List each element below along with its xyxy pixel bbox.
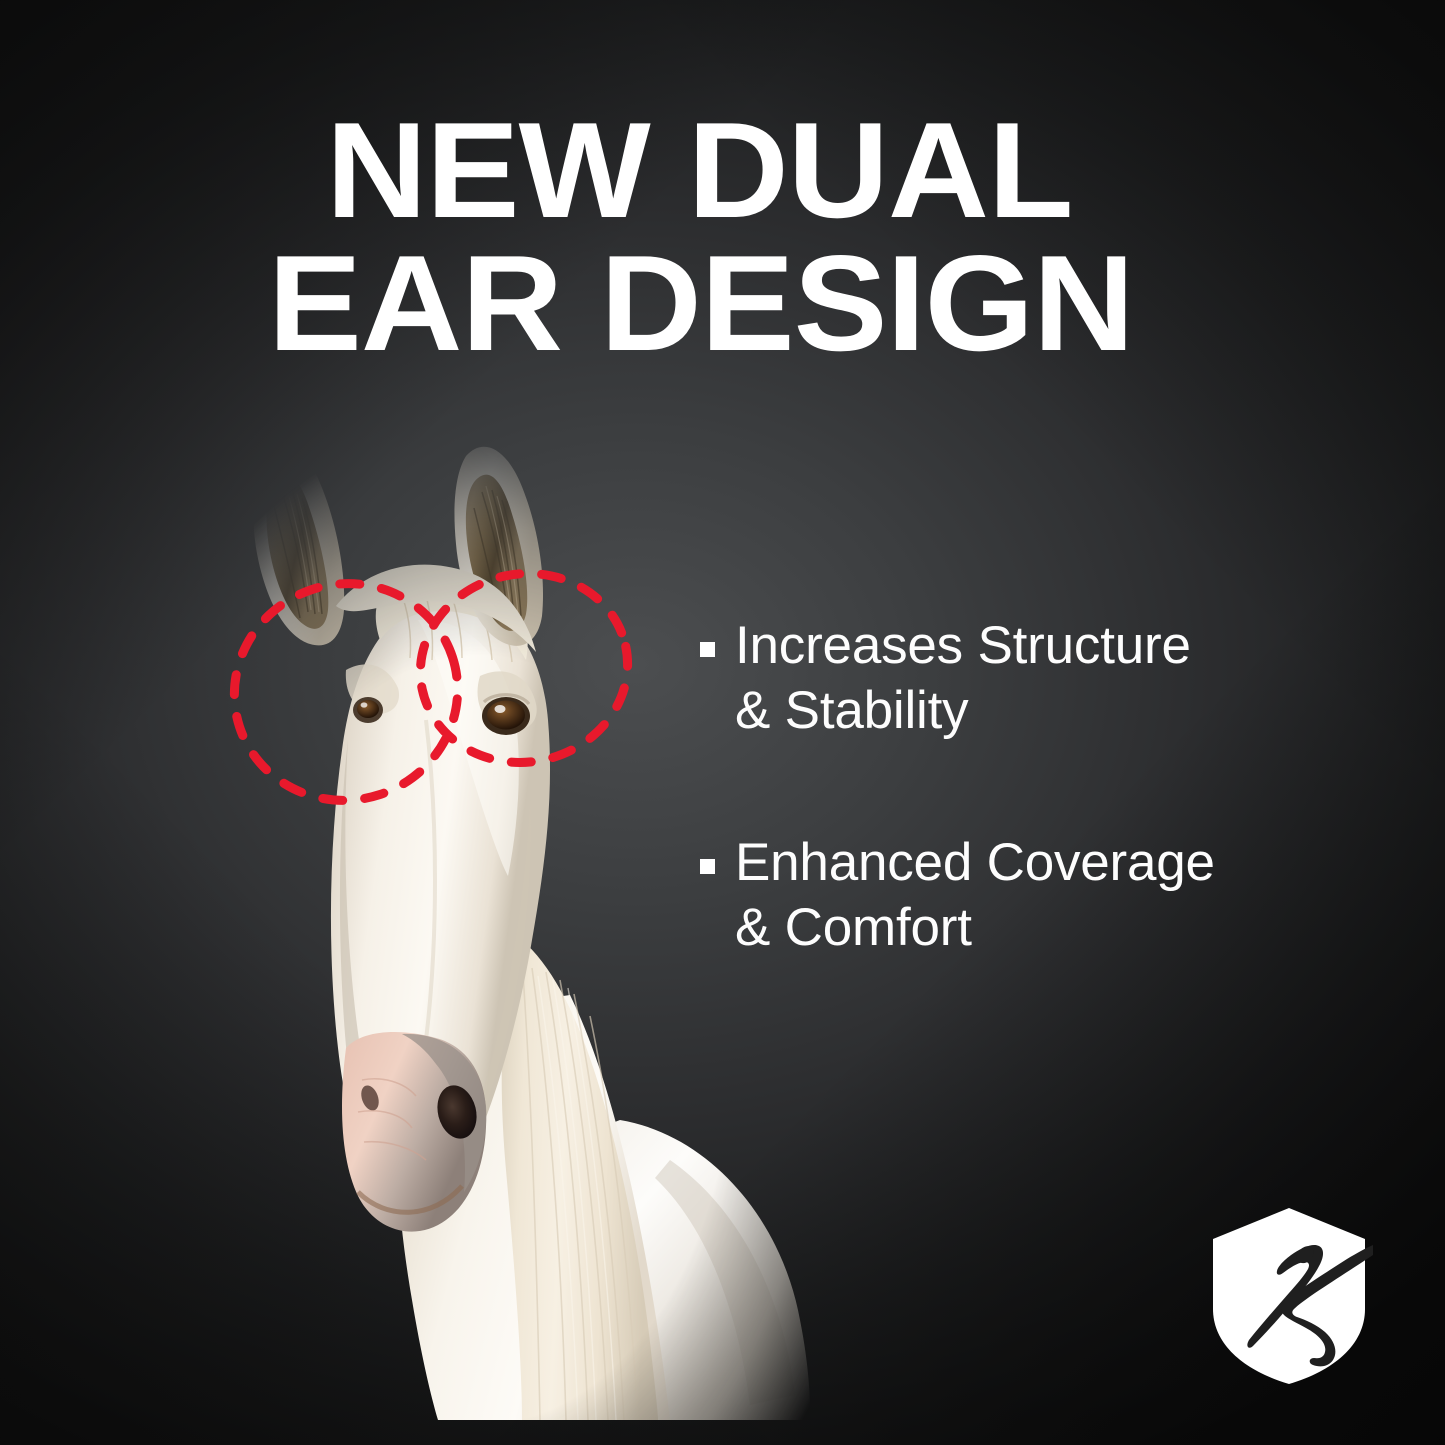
bullet-item-1-line-2: & Stability bbox=[735, 681, 968, 740]
bullet-item-2-text: Enhanced Coverage & Comfort bbox=[735, 831, 1215, 960]
bullet-item-1-line-1: Increases Structure bbox=[735, 616, 1191, 675]
bullet-item-2-line-1: Enhanced Coverage bbox=[735, 833, 1215, 892]
horse-eye-left bbox=[353, 697, 383, 723]
square-bullet-icon bbox=[700, 642, 715, 657]
horse-ear-left bbox=[253, 445, 344, 645]
bullet-item-2: Enhanced Coverage & Comfort bbox=[700, 831, 1360, 960]
feature-bullet-list: Increases Structure & Stability Enhanced… bbox=[700, 614, 1360, 961]
shield-logo-icon bbox=[1205, 1205, 1373, 1387]
bullet-item-1-text: Increases Structure & Stability bbox=[735, 614, 1191, 743]
square-bullet-icon bbox=[700, 859, 715, 874]
bullet-item-2-line-2: & Comfort bbox=[735, 898, 972, 957]
brand-logo bbox=[1205, 1205, 1373, 1387]
headline: NEW DUAL EAR DESIGN bbox=[268, 104, 1228, 371]
headline-line-2: EAR DESIGN bbox=[268, 237, 1262, 370]
promo-graphic: NEW DUAL EAR DESIGN Increases Structure … bbox=[0, 0, 1445, 1445]
bullet-item-1: Increases Structure & Stability bbox=[700, 614, 1360, 743]
headline-line-1: NEW DUAL bbox=[326, 104, 1255, 237]
